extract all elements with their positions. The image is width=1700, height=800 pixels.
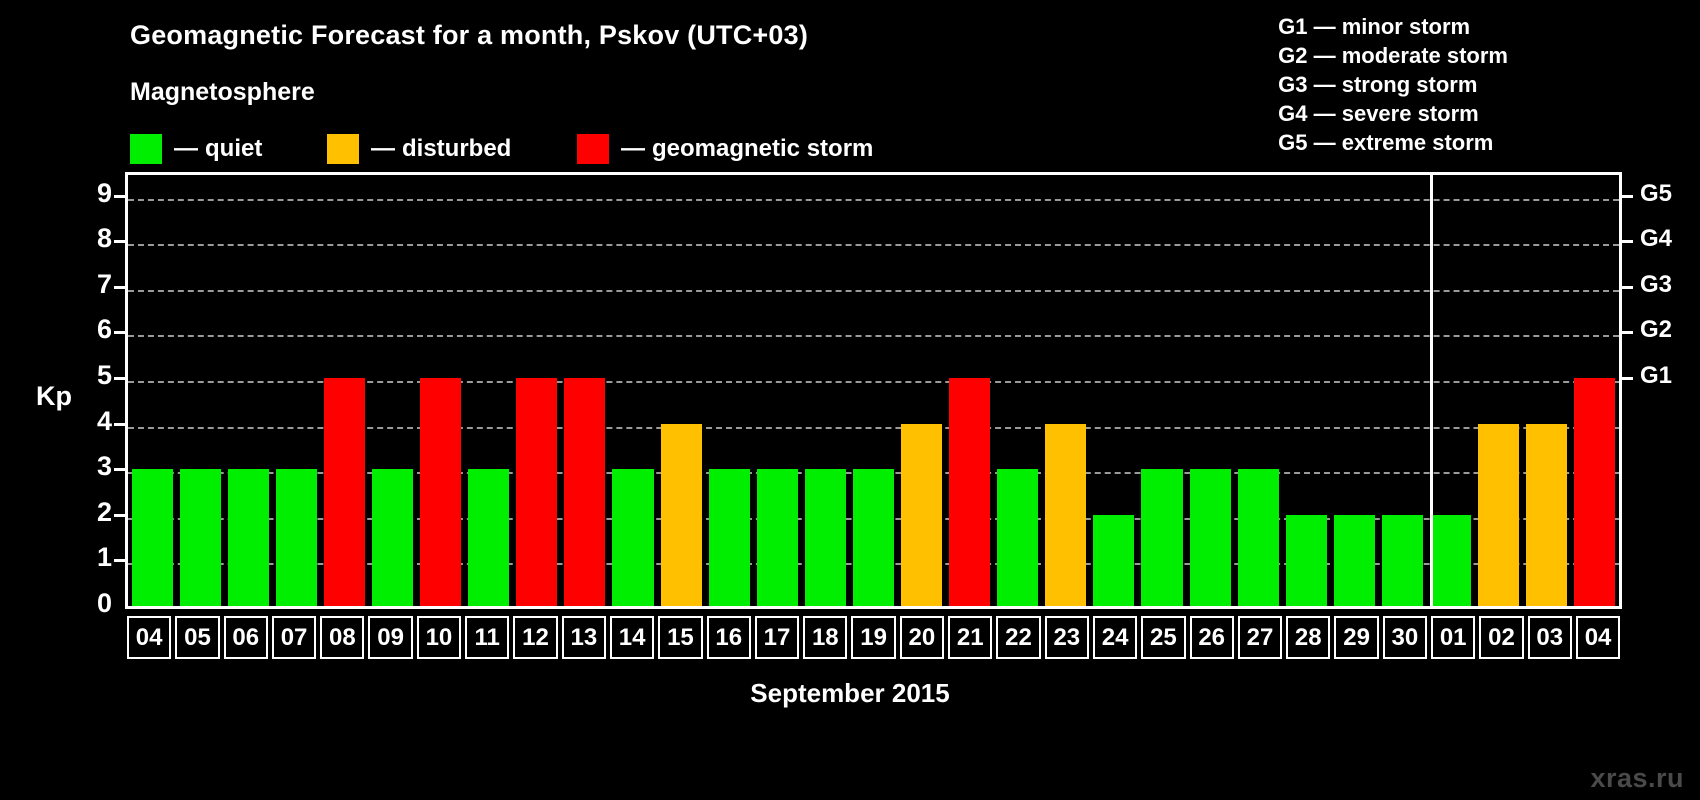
bar-cell-12[interactable]: [513, 175, 561, 606]
g-tick-mark-g2: [1620, 331, 1633, 334]
x-label-30[interactable]: 30: [1383, 616, 1427, 659]
x-label-cell-06[interactable]: 06: [222, 616, 270, 659]
bar-23-disturbed[interactable]: [1045, 424, 1086, 606]
x-label-21[interactable]: 21: [948, 616, 992, 659]
bar-06-quiet[interactable]: [228, 469, 269, 606]
x-label-14[interactable]: 14: [610, 616, 654, 659]
x-label-cell-13[interactable]: 13: [560, 616, 608, 659]
legend-label-disturbed: disturbed: [402, 135, 511, 163]
bar-cell-30[interactable]: [1378, 175, 1426, 606]
bar-30-quiet[interactable]: [1382, 515, 1423, 606]
bar-09-quiet[interactable]: [372, 469, 413, 606]
bar-cell-15[interactable]: [657, 175, 705, 606]
x-axis-labels: 0405060708091011121314151617181920212223…: [125, 616, 1622, 659]
x-label-24[interactable]: 24: [1093, 616, 1137, 659]
g-tick-label-g5: G5: [1640, 180, 1672, 208]
x-label-cell-17[interactable]: 17: [753, 616, 801, 659]
x-label-29[interactable]: 29: [1334, 616, 1378, 659]
x-label-15[interactable]: 15: [658, 616, 702, 659]
bar-01-quiet[interactable]: [1430, 515, 1471, 606]
y-tick-label-9: 9: [78, 178, 112, 209]
bar-16-quiet[interactable]: [709, 469, 750, 606]
bar-13-storm[interactable]: [564, 378, 605, 606]
y-tick-label-4: 4: [78, 406, 112, 437]
x-label-cell-23[interactable]: 23: [1043, 616, 1091, 659]
x-label-16[interactable]: 16: [707, 616, 751, 659]
bar-18-quiet[interactable]: [805, 469, 846, 606]
bar-12-storm[interactable]: [516, 378, 557, 606]
x-label-08[interactable]: 08: [320, 616, 364, 659]
x-label-cell-20[interactable]: 20: [898, 616, 946, 659]
x-label-cell-22[interactable]: 22: [994, 616, 1042, 659]
x-label-cell-16[interactable]: 16: [705, 616, 753, 659]
x-label-07[interactable]: 07: [272, 616, 316, 659]
x-label-cell-04[interactable]: 04: [125, 616, 173, 659]
x-label-cell-29[interactable]: 29: [1332, 616, 1380, 659]
x-label-cell-11[interactable]: 11: [463, 616, 511, 659]
x-label-cell-04[interactable]: 04: [1574, 616, 1622, 659]
x-label-cell-01[interactable]: 01: [1429, 616, 1477, 659]
x-label-04[interactable]: 04: [127, 616, 171, 659]
x-label-22[interactable]: 22: [996, 616, 1040, 659]
bar-cell-26[interactable]: [1186, 175, 1234, 606]
g-tick-mark-g3: [1620, 286, 1633, 289]
g-tick-mark-g1: [1620, 377, 1633, 380]
bar-10-storm[interactable]: [420, 378, 461, 606]
bar-cell-17[interactable]: [753, 175, 801, 606]
x-label-04[interactable]: 04: [1576, 616, 1620, 659]
x-label-13[interactable]: 13: [562, 616, 606, 659]
legend-item-storm: —geomagnetic storm: [577, 132, 873, 166]
y-tick-mark-4: [114, 423, 127, 426]
y-tick-label-7: 7: [78, 269, 112, 300]
x-label-cell-07[interactable]: 07: [270, 616, 318, 659]
chart-root: Geomagnetic Forecast for a month, Pskov …: [0, 0, 1700, 800]
bar-03-disturbed[interactable]: [1526, 424, 1567, 606]
x-label-09[interactable]: 09: [368, 616, 412, 659]
y-tick-mark-1: [114, 559, 127, 562]
bar-cell-08[interactable]: [320, 175, 368, 606]
storm-scale-row-g3: G3 — strong storm: [1278, 70, 1508, 99]
bar-24-quiet[interactable]: [1093, 515, 1134, 606]
legend-item-disturbed: —disturbed: [327, 132, 511, 166]
bar-cell-09[interactable]: [368, 175, 416, 606]
legend-swatch-quiet: [130, 134, 162, 164]
legend-label-storm: geomagnetic storm: [652, 135, 873, 163]
x-label-05[interactable]: 05: [175, 616, 219, 659]
page-title: Geomagnetic Forecast for a month, Pskov …: [130, 20, 808, 51]
x-label-23[interactable]: 23: [1045, 616, 1089, 659]
x-label-25[interactable]: 25: [1141, 616, 1185, 659]
bar-20-disturbed[interactable]: [901, 424, 942, 606]
g-tick-label-g4: G4: [1640, 225, 1672, 253]
x-label-26[interactable]: 26: [1190, 616, 1234, 659]
month-divider: [1430, 175, 1433, 609]
y-tick-label-3: 3: [78, 451, 112, 482]
bar-cell-22[interactable]: [994, 175, 1042, 606]
bar-cell-13[interactable]: [561, 175, 609, 606]
g-tick-label-g3: G3: [1640, 271, 1672, 299]
bar-cell-05[interactable]: [176, 175, 224, 606]
x-label-28[interactable]: 28: [1286, 616, 1330, 659]
bar-22-quiet[interactable]: [997, 469, 1038, 606]
storm-scale-key: G1 — minor stormG2 — moderate stormG3 — …: [1278, 12, 1508, 157]
x-label-cell-21[interactable]: 21: [946, 616, 994, 659]
bar-cell-21[interactable]: [946, 175, 994, 606]
legend-item-quiet: —quiet: [130, 132, 262, 166]
x-label-cell-25[interactable]: 25: [1139, 616, 1187, 659]
bar-cell-04[interactable]: [128, 175, 176, 606]
y-tick-mark-6: [114, 331, 127, 334]
x-label-10[interactable]: 10: [417, 616, 461, 659]
y-tick-mark-2: [114, 514, 127, 517]
bar-14-quiet[interactable]: [612, 469, 653, 606]
bar-cell-04[interactable]: [1571, 175, 1619, 606]
storm-scale-row-g5: G5 — extreme storm: [1278, 128, 1508, 157]
bar-cell-14[interactable]: [609, 175, 657, 606]
bar-28-quiet[interactable]: [1286, 515, 1327, 606]
bar-11-quiet[interactable]: [468, 469, 509, 606]
legend-swatch-disturbed: [327, 134, 359, 164]
y-tick-mark-9: [114, 195, 127, 198]
x-label-20[interactable]: 20: [900, 616, 944, 659]
legend-dash-quiet: —: [174, 135, 198, 163]
y-tick-mark-5: [114, 377, 127, 380]
watermark: xras.ru: [1590, 763, 1684, 794]
bar-cell-29[interactable]: [1330, 175, 1378, 606]
y-tick-label-5: 5: [78, 360, 112, 391]
plot-inner: [128, 175, 1619, 609]
x-label-cell-10[interactable]: 10: [415, 616, 463, 659]
x-label-cell-09[interactable]: 09: [366, 616, 414, 659]
bar-series: [128, 175, 1619, 606]
y-tick-label-2: 2: [78, 497, 112, 528]
bar-cell-18[interactable]: [801, 175, 849, 606]
bar-cell-27[interactable]: [1234, 175, 1282, 606]
x-label-cell-28[interactable]: 28: [1284, 616, 1332, 659]
y-tick-label-0: 0: [78, 588, 112, 619]
x-label-03[interactable]: 03: [1528, 616, 1572, 659]
bar-cell-11[interactable]: [465, 175, 513, 606]
plot-area: [125, 172, 1622, 609]
x-label-cell-26[interactable]: 26: [1188, 616, 1236, 659]
bar-02-disturbed[interactable]: [1478, 424, 1519, 606]
bar-cell-25[interactable]: [1138, 175, 1186, 606]
legend-swatch-storm: [577, 134, 609, 164]
bar-cell-28[interactable]: [1282, 175, 1330, 606]
legend-dash-disturbed: —: [371, 135, 395, 163]
bar-cell-24[interactable]: [1090, 175, 1138, 606]
x-label-cell-18[interactable]: 18: [801, 616, 849, 659]
x-label-cell-15[interactable]: 15: [656, 616, 704, 659]
x-label-cell-14[interactable]: 14: [608, 616, 656, 659]
bar-cell-23[interactable]: [1042, 175, 1090, 606]
bar-07-quiet[interactable]: [276, 469, 317, 606]
y-tick-label-8: 8: [78, 223, 112, 254]
x-label-02[interactable]: 02: [1479, 616, 1523, 659]
bar-cell-03[interactable]: [1523, 175, 1571, 606]
x-label-cell-24[interactable]: 24: [1091, 616, 1139, 659]
x-label-cell-05[interactable]: 05: [173, 616, 221, 659]
y-tick-label-1: 1: [78, 542, 112, 573]
bar-27-quiet[interactable]: [1238, 469, 1279, 606]
x-label-cell-30[interactable]: 30: [1381, 616, 1429, 659]
bar-cell-06[interactable]: [224, 175, 272, 606]
bar-21-storm[interactable]: [949, 378, 990, 606]
storm-scale-row-g4: G4 — severe storm: [1278, 99, 1508, 128]
y-tick-mark-3: [114, 468, 127, 471]
bar-15-disturbed[interactable]: [661, 424, 702, 606]
x-label-27[interactable]: 27: [1238, 616, 1282, 659]
x-axis-title: September 2015: [0, 678, 1700, 709]
x-label-01[interactable]: 01: [1431, 616, 1475, 659]
bar-cell-01[interactable]: [1427, 175, 1475, 606]
legend-label-quiet: quiet: [205, 135, 262, 163]
x-label-cell-27[interactable]: 27: [1236, 616, 1284, 659]
bar-26-quiet[interactable]: [1190, 469, 1231, 606]
y-tick-mark-7: [114, 286, 127, 289]
x-axis-line: [128, 606, 1619, 609]
x-label-12[interactable]: 12: [513, 616, 557, 659]
storm-scale-row-g1: G1 — minor storm: [1278, 12, 1508, 41]
x-label-cell-08[interactable]: 08: [318, 616, 366, 659]
x-label-18[interactable]: 18: [803, 616, 847, 659]
bar-29-quiet[interactable]: [1334, 515, 1375, 606]
g-tick-label-g1: G1: [1640, 362, 1672, 390]
bar-19-quiet[interactable]: [853, 469, 894, 606]
bar-cell-07[interactable]: [272, 175, 320, 606]
bar-04-quiet[interactable]: [132, 469, 173, 606]
storm-scale-row-g2: G2 — moderate storm: [1278, 41, 1508, 70]
bar-cell-10[interactable]: [417, 175, 465, 606]
y-axis-title: Kp: [36, 381, 72, 412]
bar-cell-16[interactable]: [705, 175, 753, 606]
bar-cell-02[interactable]: [1475, 175, 1523, 606]
g-tick-mark-g5: [1620, 195, 1633, 198]
x-label-19[interactable]: 19: [851, 616, 895, 659]
x-label-06[interactable]: 06: [224, 616, 268, 659]
bar-cell-20[interactable]: [898, 175, 946, 606]
x-label-cell-03[interactable]: 03: [1526, 616, 1574, 659]
x-label-cell-02[interactable]: 02: [1477, 616, 1525, 659]
bar-25-quiet[interactable]: [1141, 469, 1182, 606]
y-tick-mark-8: [114, 240, 127, 243]
bar-17-quiet[interactable]: [757, 469, 798, 606]
x-label-11[interactable]: 11: [465, 616, 509, 659]
bar-04-storm[interactable]: [1574, 378, 1615, 606]
x-label-17[interactable]: 17: [755, 616, 799, 659]
x-label-cell-12[interactable]: 12: [511, 616, 559, 659]
bar-cell-19[interactable]: [849, 175, 897, 606]
bar-05-quiet[interactable]: [180, 469, 221, 606]
x-label-cell-19[interactable]: 19: [849, 616, 897, 659]
chart-subtitle: Magnetosphere: [130, 78, 315, 107]
bar-08-storm[interactable]: [324, 378, 365, 606]
legend-dash-storm: —: [621, 135, 645, 163]
g-tick-label-g2: G2: [1640, 316, 1672, 344]
y-tick-label-6: 6: [78, 314, 112, 345]
g-tick-mark-g4: [1620, 240, 1633, 243]
